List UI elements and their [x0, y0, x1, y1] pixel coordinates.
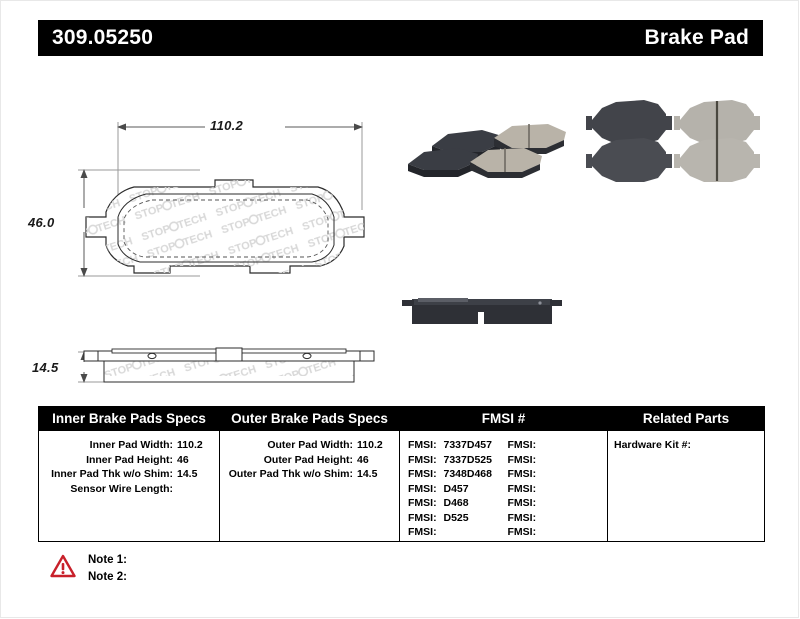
notes-section: Note 1: Note 2:	[50, 552, 127, 586]
fmsi-value	[536, 468, 540, 480]
pad-photo-edge	[398, 282, 566, 334]
spec-value	[173, 482, 219, 497]
spec-row: Outer Pad Thk w/o Shim: 14.5	[220, 467, 399, 482]
spec-label: Sensor Wire Length:	[39, 482, 173, 497]
fmsi-row: FMSI:	[508, 438, 608, 453]
fmsi-value	[536, 526, 540, 538]
fmsi-row: FMSI:	[508, 482, 608, 497]
fmsi-label: FMSI:	[408, 526, 437, 538]
dimension-height-label: 46.0	[28, 215, 55, 230]
technical-drawing-area: STOP TECH STOP TECH	[0, 60, 800, 390]
fmsi-label: FMSI:	[508, 468, 537, 480]
column-body-outer: Outer Pad Width: 110.2 Outer Pad Height:…	[220, 431, 399, 482]
spec-label: Inner Pad Thk w/o Shim:	[39, 467, 173, 482]
spec-row: Inner Pad Height: 46	[39, 453, 219, 468]
spec-value: 46	[353, 453, 399, 468]
spec-value: 14.5	[173, 467, 219, 482]
spec-value: 46	[173, 453, 219, 468]
column-body-inner: Inner Pad Width: 110.2 Inner Pad Height:…	[39, 431, 219, 496]
fmsi-value: D468	[440, 497, 469, 509]
column-body-fmsi: FMSI: 7337D457 FMSI: 7337D525 FMSI: 7348…	[400, 431, 607, 540]
column-related-parts: Related Parts Hardware Kit #:	[607, 407, 764, 541]
fmsi-label: FMSI:	[508, 454, 537, 466]
spec-label: Inner Pad Height:	[39, 453, 173, 468]
column-header-inner: Inner Brake Pads Specs	[39, 407, 219, 431]
spec-label: Outer Pad Height:	[220, 453, 353, 468]
spec-label: Outer Pad Width:	[220, 438, 353, 453]
spec-row: Outer Pad Width: 110.2	[220, 438, 399, 453]
spec-value: 110.2	[353, 438, 399, 453]
fmsi-row: FMSI: 7337D457	[408, 438, 508, 453]
fmsi-value: 7348D468	[440, 468, 492, 480]
spec-row: Outer Pad Height: 46	[220, 453, 399, 468]
column-body-related: Hardware Kit #:	[608, 431, 764, 453]
dimension-width-label: 110.2	[210, 118, 243, 133]
column-header-related: Related Parts	[608, 407, 764, 431]
header-bar: 309.05250 Brake Pad	[38, 20, 763, 56]
fmsi-row: FMSI: 7348D468	[408, 467, 508, 482]
column-header-fmsi: FMSI #	[400, 407, 607, 431]
fmsi-label: FMSI:	[408, 483, 437, 495]
pad-photo-angled	[396, 94, 578, 186]
fmsi-value: D457	[440, 483, 469, 495]
fmsi-value: 7337D525	[440, 454, 492, 466]
warning-triangle-icon	[50, 554, 76, 578]
product-type: Brake Pad	[644, 26, 749, 50]
column-header-outer: Outer Brake Pads Specs	[220, 407, 399, 431]
fmsi-row: FMSI:	[508, 525, 608, 540]
fmsi-row: FMSI:	[508, 511, 608, 526]
note-1: Note 1:	[88, 552, 127, 569]
dimension-thickness-label: 14.5	[32, 360, 59, 375]
fmsi-label: FMSI:	[508, 526, 537, 538]
fmsi-value	[536, 483, 540, 495]
fmsi-row: FMSI: D457	[408, 482, 508, 497]
fmsi-value: D525	[440, 512, 469, 524]
fmsi-row: FMSI:	[508, 467, 608, 482]
related-row: Hardware Kit #:	[614, 438, 764, 453]
spec-row: Inner Pad Thk w/o Shim: 14.5	[39, 467, 219, 482]
note-text-block: Note 1: Note 2:	[88, 552, 127, 586]
fmsi-label: FMSI:	[508, 497, 537, 509]
fmsi-value	[536, 512, 540, 524]
column-fmsi: FMSI # FMSI: 7337D457 FMSI: 7337D525 FMS…	[399, 407, 607, 541]
fmsi-label: FMSI:	[408, 439, 437, 451]
fmsi-row: FMSI:	[508, 453, 608, 468]
fmsi-label: FMSI:	[508, 439, 537, 451]
fmsi-value: 7337D457	[440, 439, 492, 451]
spec-row: Inner Pad Width: 110.2	[39, 438, 219, 453]
column-outer-specs: Outer Brake Pads Specs Outer Pad Width: …	[219, 407, 399, 541]
pad-photo-topdown	[582, 90, 768, 186]
spec-value: 14.5	[353, 467, 399, 482]
related-label: Hardware Kit #:	[614, 439, 691, 451]
fmsi-label: FMSI:	[408, 497, 437, 509]
fmsi-label: FMSI:	[508, 483, 537, 495]
spec-row: Sensor Wire Length:	[39, 482, 219, 497]
fmsi-right-group: FMSI: FMSI: FMSI: FMSI:	[508, 438, 608, 540]
fmsi-value	[536, 439, 540, 451]
fmsi-label: FMSI:	[408, 468, 437, 480]
note-2: Note 2:	[88, 569, 127, 586]
fmsi-label: FMSI:	[408, 512, 437, 524]
specifications-table: Inner Brake Pads Specs Inner Pad Width: …	[38, 406, 765, 542]
fmsi-row: FMSI:	[408, 525, 508, 540]
fmsi-label: FMSI:	[508, 512, 537, 524]
fmsi-row: FMSI: D468	[408, 496, 508, 511]
fmsi-left-group: FMSI: 7337D457 FMSI: 7337D525 FMSI: 7348…	[408, 438, 508, 540]
spec-value: 110.2	[173, 438, 219, 453]
fmsi-row: FMSI: 7337D525	[408, 453, 508, 468]
fmsi-label: FMSI:	[408, 454, 437, 466]
fmsi-row: FMSI:	[508, 496, 608, 511]
spec-label: Outer Pad Thk w/o Shim:	[220, 467, 353, 482]
fmsi-value	[437, 526, 441, 538]
column-inner-specs: Inner Brake Pads Specs Inner Pad Width: …	[39, 407, 219, 541]
spec-label: Inner Pad Width:	[39, 438, 173, 453]
fmsi-value	[536, 497, 540, 509]
fmsi-row: FMSI: D525	[408, 511, 508, 526]
part-number: 309.05250	[52, 26, 153, 50]
fmsi-value	[536, 454, 540, 466]
